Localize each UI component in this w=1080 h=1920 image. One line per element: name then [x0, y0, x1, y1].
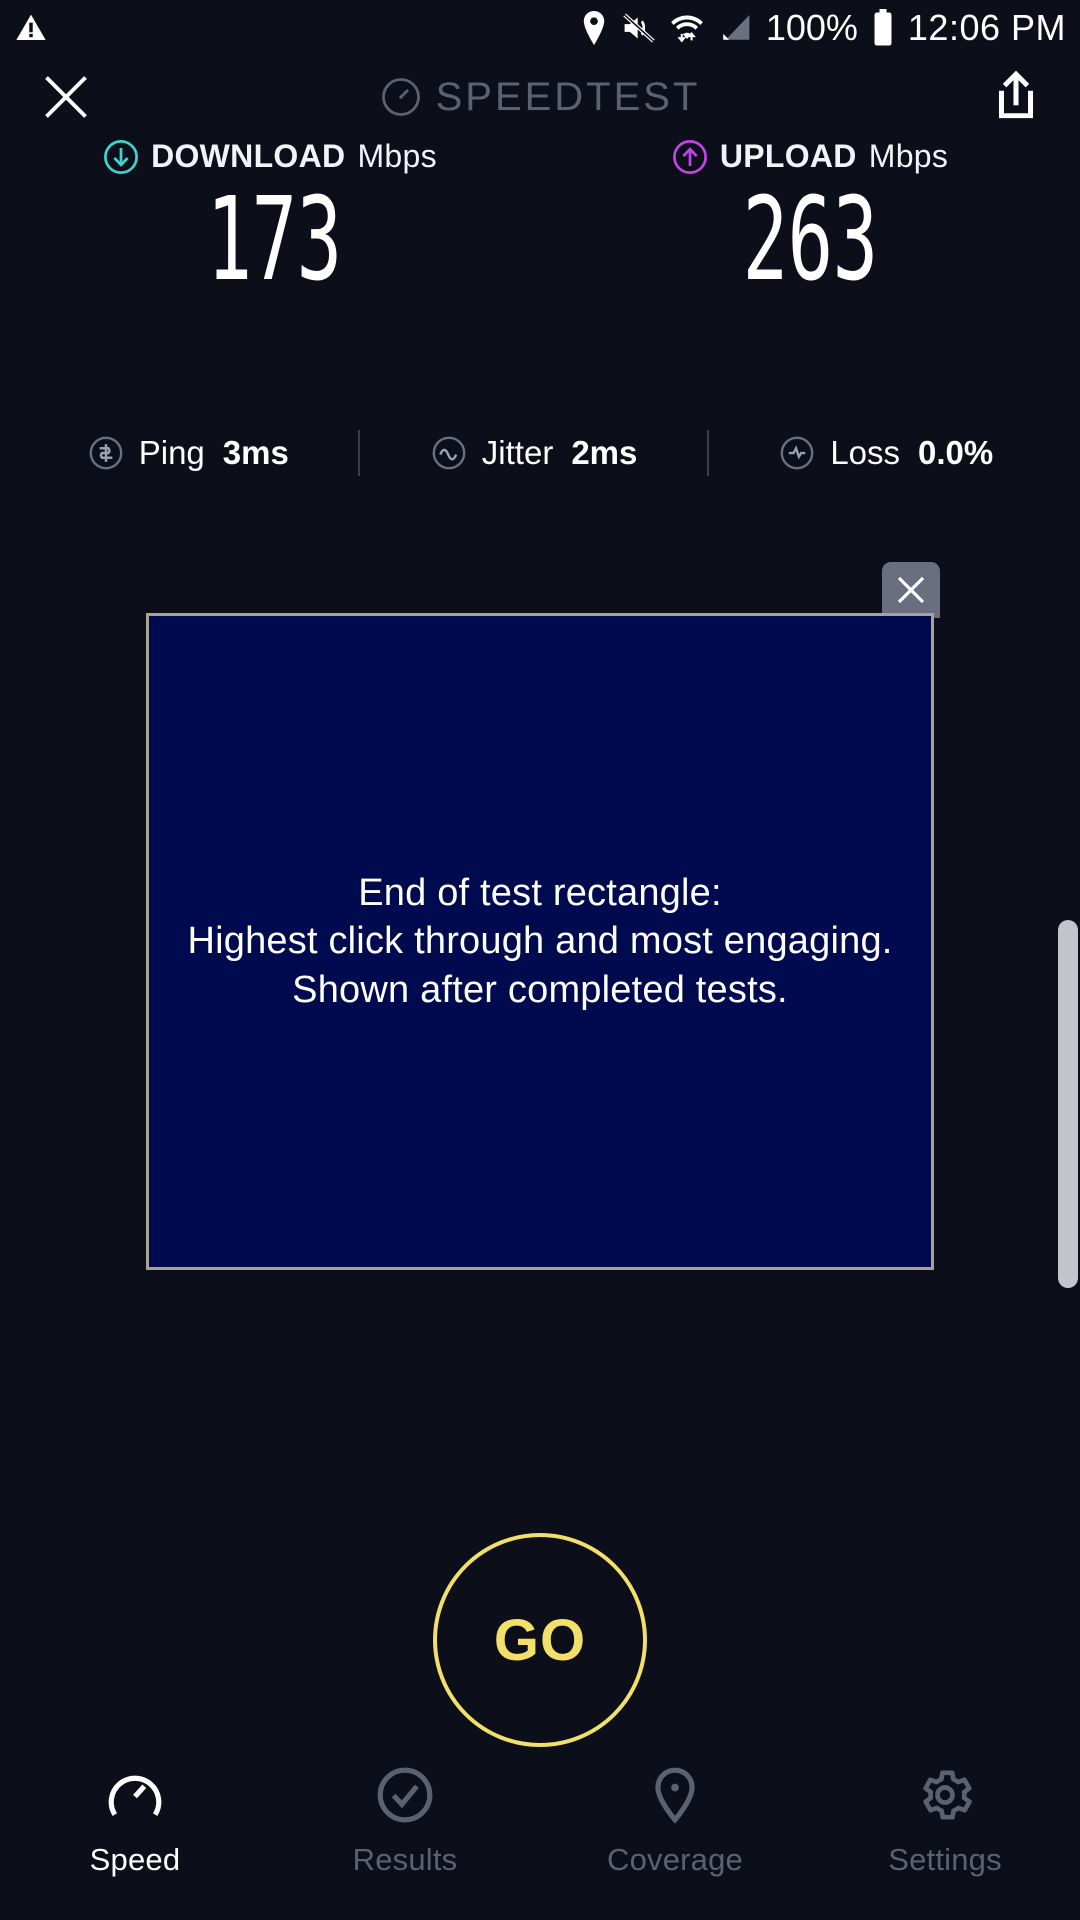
vertical-scrollbar[interactable] — [1058, 920, 1078, 1288]
nav-item-results[interactable]: Results — [270, 1764, 540, 1878]
mute-icon — [622, 12, 656, 44]
check-circle-icon — [374, 1764, 436, 1826]
loss-metric: Loss 0.0% — [778, 434, 993, 472]
loss-label: Loss — [830, 434, 900, 472]
status-bar-right: 100% 12:06 PM — [580, 7, 1066, 49]
advertisement-banner[interactable]: End of test rectangle: Highest click thr… — [146, 613, 934, 1270]
go-button-label: GO — [494, 1607, 586, 1674]
location-pin-icon — [580, 11, 608, 45]
nav-label-coverage: Coverage — [607, 1842, 743, 1878]
nav-label-settings: Settings — [888, 1842, 1002, 1878]
metric-divider — [707, 430, 709, 476]
download-result: DOWNLOAD Mbps 173 — [0, 138, 540, 300]
jitter-label: Jitter — [482, 434, 554, 472]
app-title-group: SPEEDTEST — [0, 75, 1080, 120]
upload-unit: Mbps — [869, 138, 948, 175]
upload-kind: UPLOAD — [720, 138, 857, 175]
upload-result: UPLOAD Mbps 263 — [540, 138, 1080, 300]
nav-label-results: Results — [353, 1842, 458, 1878]
warning-triangle-icon — [14, 12, 48, 44]
ping-icon — [87, 434, 125, 472]
network-metrics-row: Ping 3ms Jitter 2ms — [0, 430, 1080, 476]
cell-signal-icon — [718, 12, 752, 44]
upload-value: 263 — [632, 180, 988, 301]
speedometer-icon — [104, 1764, 166, 1826]
arrow-up-circle-icon — [672, 139, 708, 175]
jitter-icon — [430, 434, 468, 472]
download-label: DOWNLOAD Mbps — [103, 138, 437, 175]
gear-icon — [914, 1764, 976, 1826]
status-bar-left — [14, 12, 48, 44]
loss-icon — [778, 434, 816, 472]
speedometer-icon — [380, 76, 422, 118]
speed-row: DOWNLOAD Mbps 173 UPLOAD Mbps — [0, 138, 1080, 300]
close-button[interactable] — [40, 71, 92, 123]
status-bar-clock: 12:06 PM — [908, 7, 1066, 49]
wifi-icon — [670, 11, 704, 45]
loss-value: 0.0% — [918, 434, 993, 472]
ad-close-button[interactable] — [882, 562, 940, 618]
battery-percentage: 100% — [766, 7, 858, 49]
go-button[interactable]: GO — [433, 1533, 647, 1747]
bottom-navigation-bar: Speed Results Coverage — [0, 1750, 1080, 1920]
app-bar: SPEEDTEST — [0, 58, 1080, 136]
nav-item-settings[interactable]: Settings — [810, 1764, 1080, 1878]
nav-label-speed: Speed — [90, 1842, 181, 1878]
map-pin-icon — [644, 1764, 706, 1826]
upload-label: UPLOAD Mbps — [672, 138, 948, 175]
nav-item-coverage[interactable]: Coverage — [540, 1764, 810, 1878]
ping-value: 3ms — [223, 434, 289, 472]
speedtest-app-screen: 100% 12:06 PM — [0, 0, 1080, 1920]
download-value: 173 — [98, 180, 449, 301]
nav-item-speed[interactable]: Speed — [0, 1764, 270, 1878]
battery-full-icon — [872, 9, 894, 47]
page-title: SPEEDTEST — [436, 75, 701, 120]
metric-divider — [358, 430, 360, 476]
results-summary: DOWNLOAD Mbps 173 UPLOAD Mbps — [0, 138, 1080, 300]
jitter-metric: Jitter 2ms — [430, 434, 638, 472]
status-bar: 100% 12:06 PM — [0, 0, 1080, 55]
jitter-value: 2ms — [571, 434, 637, 472]
ad-text: End of test rectangle: Highest click thr… — [187, 869, 892, 1015]
ping-label: Ping — [139, 434, 205, 472]
share-icon[interactable] — [992, 70, 1040, 124]
download-unit: Mbps — [357, 138, 436, 175]
ping-metric: Ping 3ms — [87, 434, 289, 472]
arrow-down-circle-icon — [103, 139, 139, 175]
download-kind: DOWNLOAD — [151, 138, 345, 175]
